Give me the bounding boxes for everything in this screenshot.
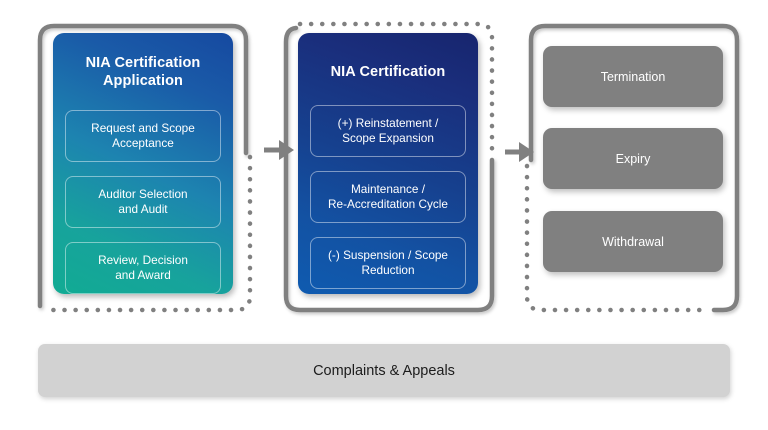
- step-reinstatement-scope-expansion-line2: Scope Expansion: [338, 131, 439, 146]
- step-review-decision-and-award[interactable]: Review, Decision and Award: [65, 242, 221, 294]
- outcome-termination[interactable]: Termination: [543, 46, 723, 107]
- process-diagram: NIA Certification Application Request an…: [0, 0, 768, 430]
- step-auditor-selection-and-audit-line1: Auditor Selection: [98, 187, 187, 202]
- panel-title-application-line1: NIA Certification: [53, 54, 233, 72]
- step-request-and-scope-acceptance[interactable]: Request and Scope Acceptance: [65, 110, 221, 162]
- complaints-and-appeals-bar[interactable]: Complaints & Appeals: [38, 344, 730, 397]
- complaints-and-appeals-label: Complaints & Appeals: [313, 363, 455, 379]
- step-maintenance-re-accreditation-cycle-line1: Maintenance /: [328, 182, 448, 197]
- step-review-decision-and-award-line2: and Award: [98, 268, 188, 283]
- panel-nia-certification[interactable]: NIA Certification (+) Reinstatement / Sc…: [298, 33, 478, 294]
- arrow-application-to-certification-icon: [264, 140, 294, 160]
- step-maintenance-re-accreditation-cycle[interactable]: Maintenance / Re-Accreditation Cycle: [310, 171, 466, 223]
- outcome-withdrawal-label: Withdrawal: [602, 235, 664, 249]
- step-suspension-scope-reduction-line1: (-) Suspension / Scope: [328, 248, 448, 263]
- panel-title-certification-line1: NIA Certification: [298, 63, 478, 81]
- panel-title-application: NIA Certification Application: [53, 54, 233, 90]
- step-reinstatement-scope-expansion[interactable]: (+) Reinstatement / Scope Expansion: [310, 105, 466, 157]
- step-reinstatement-scope-expansion-line1: (+) Reinstatement /: [338, 116, 439, 131]
- step-review-decision-and-award-line1: Review, Decision: [98, 253, 188, 268]
- step-request-and-scope-acceptance-line1: Request and Scope: [91, 121, 195, 136]
- outcome-withdrawal[interactable]: Withdrawal: [543, 211, 723, 272]
- panel-title-application-line2: Application: [53, 72, 233, 90]
- outcome-expiry-label: Expiry: [616, 152, 651, 166]
- panel-nia-certification-application[interactable]: NIA Certification Application Request an…: [53, 33, 233, 294]
- outcome-expiry[interactable]: Expiry: [543, 128, 723, 189]
- arrow-certification-to-outcomes-icon: [505, 142, 534, 162]
- panel-title-certification: NIA Certification: [298, 63, 478, 81]
- step-auditor-selection-and-audit-line2: and Audit: [98, 202, 187, 217]
- step-maintenance-re-accreditation-cycle-line2: Re-Accreditation Cycle: [328, 197, 448, 212]
- outcome-termination-label: Termination: [601, 70, 666, 84]
- step-suspension-scope-reduction-line2: Reduction: [328, 263, 448, 278]
- step-request-and-scope-acceptance-line2: Acceptance: [91, 136, 195, 151]
- step-suspension-scope-reduction[interactable]: (-) Suspension / Scope Reduction: [310, 237, 466, 289]
- step-auditor-selection-and-audit[interactable]: Auditor Selection and Audit: [65, 176, 221, 228]
